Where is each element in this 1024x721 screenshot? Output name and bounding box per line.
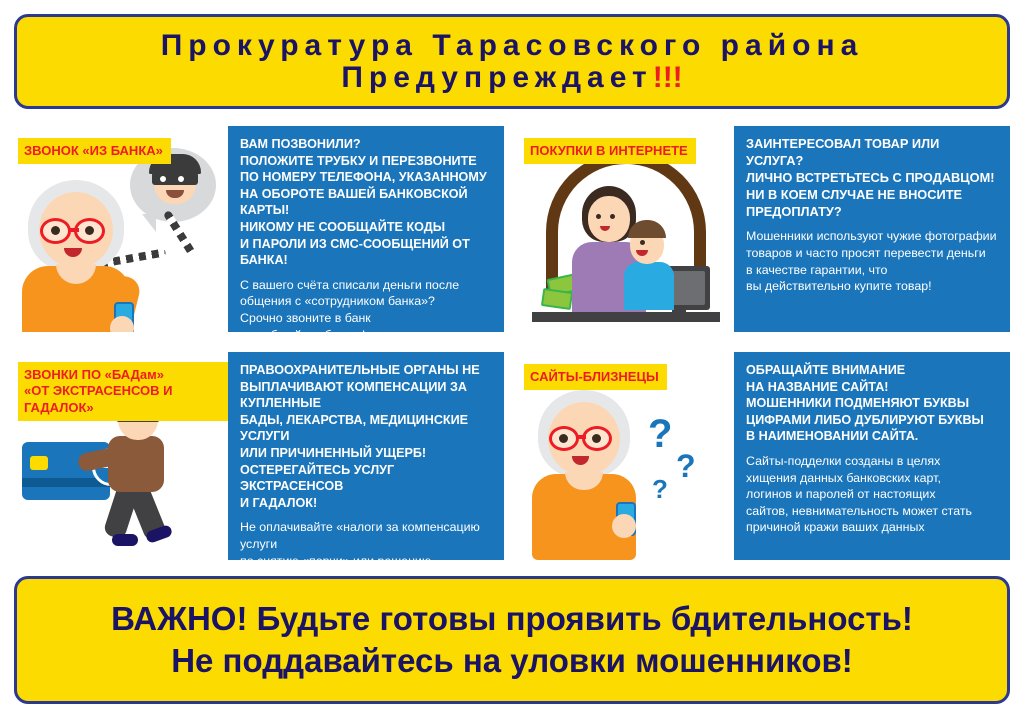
card-text-twin-sites: ОБРАЩАЙТЕ ВНИМАНИЕ НА НАЗВАНИЕ САЙТА! МО… [734,352,1010,560]
thief-mask-icon [152,172,198,185]
card-bold-text-psychics-calls: ПРАВООХРАНИТЕЛЬНЫЕ ОРГАНЫ НЕ ВЫПЛАЧИВАЮТ… [240,362,494,511]
advice-card-grid: ЗВОНОК «ИЗ БАНКА» ВАМ ПОЗВОНИЛИ? ПОЛОЖИТ… [14,126,1010,560]
card-internet-shopping: ПОКУПКИ В ИНТЕРНЕТЕ ЗАИНТЕРЕСОВАЛ ТОВАР … [520,126,1010,332]
bottom-warning-banner: ВАЖНО! Будьте готовы проявить бдительнос… [14,576,1010,704]
thief-eye-left-icon [160,176,166,182]
confused-eye-left-icon [559,434,568,443]
confused-hand-icon [612,514,636,538]
bottom-banner-line-2: Не поддавайтесь на уловки мошенников! [171,641,853,681]
card-normal-text-internet-shopping: Мошенники используют чужие фотографии то… [746,228,1000,294]
seller-eye-icon [640,240,645,245]
card-bold-text-internet-shopping: ЗАИНТЕРЕСОВАЛ ТОВАР ИЛИ УСЛУГА? ЛИЧНО ВС… [746,136,1000,220]
card-bold-text-twin-sites: ОБРАЩАЙТЕ ВНИМАНИЕ НА НАЗВАНИЕ САЙТА! МО… [746,362,1000,445]
card-bold-text-call-from-bank: ВАМ ПОЗВОНИЛИ? ПОЛОЖИТЕ ТРУБКУ И ПЕРЕЗВО… [240,136,494,269]
card-title-twin-sites: САЙТЫ-БЛИЗНЕЦЫ [524,364,667,390]
buyer-face-icon [588,196,630,242]
top-banner-exclamation: !!! [653,61,683,94]
top-banner-line-2: Предупреждает!!! [341,62,682,94]
question-mark-medium-icon: ? [676,448,696,485]
top-warning-banner: Прокуратура Тарасовского района Предупре… [14,14,1010,109]
eyeglass-bridge-icon [70,228,79,232]
buyer-eye-left-icon [596,214,601,219]
eye-right-icon [85,226,94,235]
bottom-banner-line-1: ВАЖНО! Будьте готовы проявить бдительнос… [111,599,913,639]
top-banner-line-2-text: Предупреждает [341,61,652,94]
bank-card-chip-icon [30,456,48,470]
seller-body-icon [624,262,674,310]
card-psychics-calls: ЗВОНКИ ПО «БАДам» «ОТ ЭКСТРАСЕНСОВ И ГАД… [14,352,504,560]
desk-icon [532,312,720,322]
card-illustration-call-from-bank: ЗВОНОК «ИЗ БАНКА» [14,126,228,332]
question-mark-large-icon: ? [648,412,672,457]
card-text-call-from-bank: ВАМ ПОЗВОНИЛИ? ПОЛОЖИТЕ ТРУБКУ И ПЕРЕЗВО… [228,126,504,332]
monitor-stand-icon [672,310,686,320]
top-banner-line-1: Прокуратура Тарасовского района [161,30,864,62]
thief-eye-right-icon [178,176,184,182]
card-illustration-internet-shopping: ПОКУПКИ В ИНТЕРНЕТЕ [520,126,734,332]
card-title-call-from-bank: ЗВОНОК «ИЗ БАНКА» [18,138,171,164]
card-illustration-twin-sites: ? ? ? САЙТЫ-БЛИЗНЕЦЫ [520,352,734,560]
confused-eye-right-icon [592,434,601,443]
card-text-psychics-calls: ПРАВООХРАНИТЕЛЬНЫЕ ОРГАНЫ НЕ ВЫПЛАЧИВАЮТ… [228,352,504,560]
card-call-from-bank: ЗВОНОК «ИЗ БАНКА» ВАМ ПОЗВОНИЛИ? ПОЛОЖИТ… [14,126,504,332]
card-twin-sites: ? ? ? САЙТЫ-БЛИЗНЕЦЫ ОБРАЩАЙТЕ ВНИМАНИЕ … [520,352,1010,560]
banknote-second-icon [541,288,573,310]
confused-eyeglass-bridge-icon [578,435,586,439]
card-illustration-psychics-calls: ЗВОНКИ ПО «БАДам» «ОТ ЭКСТРАСЕНСОВ И ГАД… [14,352,228,560]
buyer-eye-right-icon [610,214,615,219]
card-text-internet-shopping: ЗАИНТЕРЕСОВАЛ ТОВАР ИЛИ УСЛУГА? ЛИЧНО ВС… [734,126,1010,332]
card-normal-text-call-from-bank: С вашего счёта списали деньги после обще… [240,277,494,332]
card-normal-text-psychics-calls: Не оплачивайте «налоги за компенсацию ус… [240,519,494,560]
speech-bubble-tail [142,214,156,232]
question-mark-small-icon: ? [652,474,668,505]
eye-left-icon [51,226,60,235]
thief-shoe-left-icon [112,534,138,546]
card-normal-text-twin-sites: Сайты-подделки созданы в целях хищения д… [746,453,1000,536]
card-title-internet-shopping: ПОКУПКИ В ИНТЕРНЕТЕ [524,138,696,164]
card-title-psychics-calls: ЗВОНКИ ПО «БАДам» «ОТ ЭКСТРАСЕНСОВ И ГАД… [18,362,228,421]
